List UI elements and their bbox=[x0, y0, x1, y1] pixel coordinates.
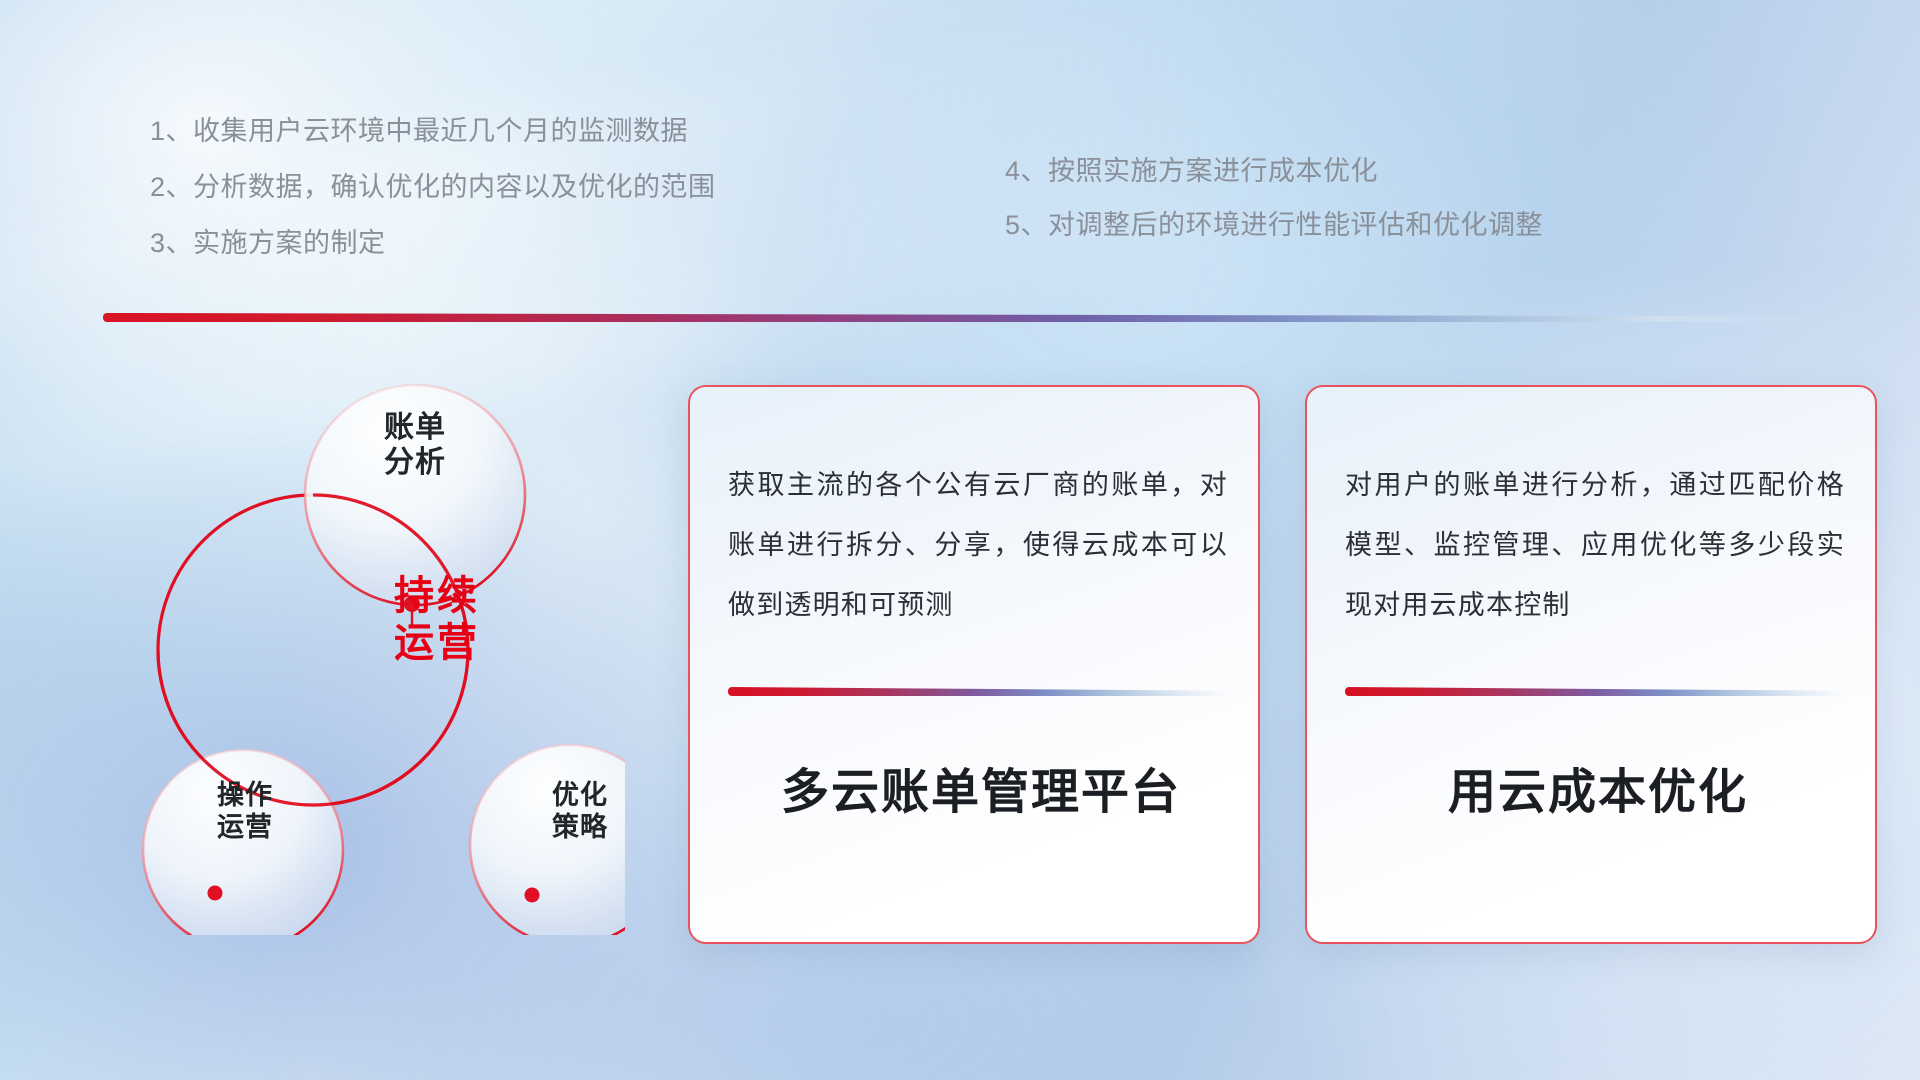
venn-label-top: 账单 分析 bbox=[330, 410, 500, 481]
venn-label-bottom-right: 优化 策略 bbox=[495, 780, 665, 844]
card-title: 用云成本优化 bbox=[1345, 752, 1851, 822]
feature-card-cost-optimization[interactable]: 对用户的账单进行分析，通过匹配价格模型、监控管理、应用优化等多少段实现对用云成本… bbox=[1305, 385, 1877, 944]
venn-label-center: 持续 运营 bbox=[347, 573, 527, 667]
section-divider-gradient bbox=[103, 313, 1833, 322]
feature-card-billing-platform[interactable]: 获取主流的各个公有云厂商的账单，对账单进行拆分、分享，使得云成本可以做到透明和可… bbox=[688, 385, 1260, 944]
steps-right-column: 4、按照实施方案进行成本优化 5、对调整后的环境进行性能评估和优化调整 bbox=[1005, 158, 1543, 266]
step-item: 5、对调整后的环境进行性能评估和优化调整 bbox=[1005, 212, 1543, 239]
card-title: 多云账单管理平台 bbox=[728, 752, 1234, 822]
venn-node-left bbox=[208, 886, 223, 901]
step-item: 1、收集用户云环境中最近几个月的监测数据 bbox=[150, 118, 716, 145]
card-divider bbox=[728, 687, 1228, 696]
step-item: 3、实施方案的制定 bbox=[150, 230, 716, 257]
card-divider-gradient bbox=[1345, 687, 1845, 696]
venn-label-bottom-left: 操作 运营 bbox=[160, 780, 330, 844]
venn-ring-arc-lower-right bbox=[313, 650, 468, 805]
venn-diagram: 账单 分析 持续 运营 操作 运营 优化 策略 bbox=[95, 355, 625, 935]
card-body-text: 获取主流的各个公有云厂商的账单，对账单进行拆分、分享，使得云成本可以做到透明和可… bbox=[728, 455, 1228, 635]
step-item: 4、按照实施方案进行成本优化 bbox=[1005, 158, 1543, 185]
steps-left-column: 1、收集用户云环境中最近几个月的监测数据 2、分析数据，确认优化的内容以及优化的… bbox=[150, 118, 716, 286]
venn-node-right bbox=[525, 888, 540, 903]
section-divider-rule bbox=[103, 313, 1833, 322]
card-divider bbox=[1345, 687, 1845, 696]
card-body-text: 对用户的账单进行分析，通过匹配价格模型、监控管理、应用优化等多少段实现对用云成本… bbox=[1345, 455, 1845, 635]
step-item: 2、分析数据，确认优化的内容以及优化的范围 bbox=[150, 174, 716, 201]
card-divider-gradient bbox=[728, 687, 1228, 696]
